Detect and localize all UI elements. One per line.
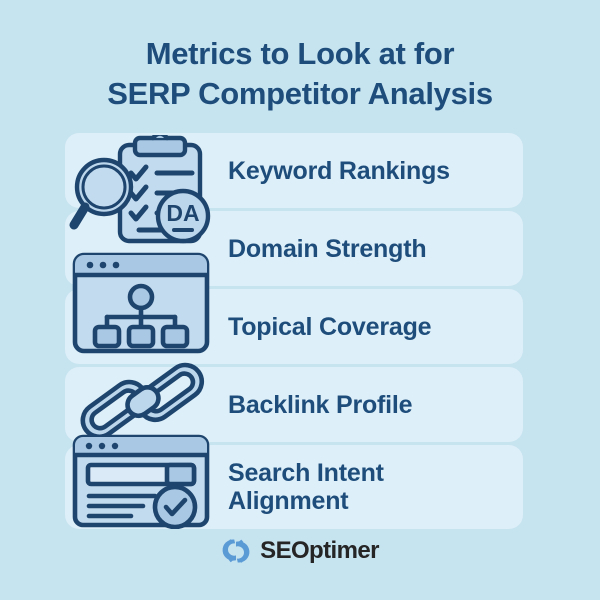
title-line-2: SERP Competitor Analysis [0, 74, 600, 114]
seoptimer-gear-logo-icon [221, 536, 251, 566]
metric-label: Domain Strength [228, 235, 426, 263]
metric-label: Search Intent Alignment [228, 459, 384, 515]
list-item-domain-strength[interactable]: Domain Strength [65, 211, 523, 286]
list-item-backlink-profile[interactable]: Backlink Profile [65, 367, 523, 442]
infographic-root: Metrics to Look at for SERP Competitor A… [0, 0, 600, 600]
list-item-topical-coverage[interactable]: Topical Coverage [65, 289, 523, 364]
list-item-keyword-rankings[interactable]: Keyword Rankings [65, 133, 523, 208]
metric-label: Topical Coverage [228, 313, 431, 341]
metric-label-line-2: Alignment [228, 487, 384, 515]
metric-label-line-1: Search Intent [228, 459, 384, 487]
list-item-search-intent-alignment[interactable]: Search Intent Alignment [65, 445, 523, 529]
metric-label: Backlink Profile [228, 391, 412, 419]
footer-branding: SEOptimer [0, 536, 600, 566]
metrics-list: Keyword Rankings Domain Strength Topical… [65, 133, 523, 529]
brand-name: SEOptimer [260, 539, 379, 563]
metric-label: Keyword Rankings [228, 157, 450, 185]
page-title: Metrics to Look at for SERP Competitor A… [0, 34, 600, 114]
title-line-1: Metrics to Look at for [0, 34, 600, 74]
